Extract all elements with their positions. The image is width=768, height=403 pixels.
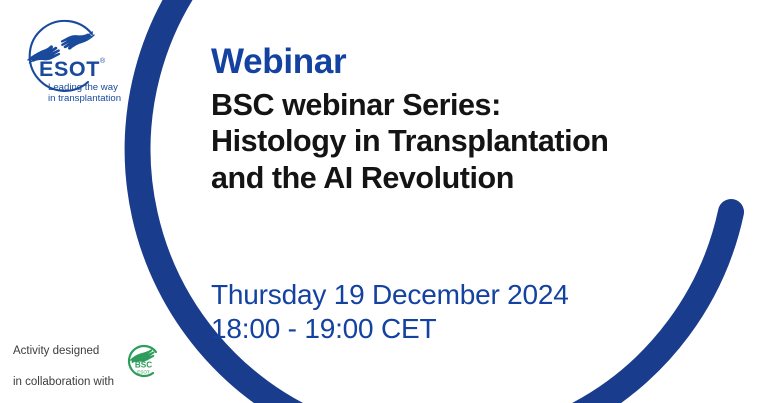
collaboration-text: Activity designed in collaboration with — [13, 329, 114, 391]
webinar-banner: ESOT ® Leading the way in transplantatio… — [0, 0, 768, 403]
schedule-block: Thursday 19 December 2024 18:00 - 19:00 … — [211, 278, 731, 346]
headline-line-2: Histology in Transplantation — [211, 123, 731, 160]
kicker-label: Webinar — [211, 44, 731, 81]
page-title: BSC webinar Series: Histology in Transpl… — [211, 87, 731, 197]
headline-block: Webinar BSC webinar Series: Histology in… — [211, 44, 731, 197]
esot-logo: ESOT ® Leading the way in transplantatio… — [10, 12, 135, 104]
esot-tagline-line-1: Leading the way — [48, 82, 118, 93]
collaboration-block: Activity designed in collaboration with … — [13, 329, 164, 391]
headline-line-3: and the AI Revolution — [211, 160, 731, 197]
bsc-logo-primary-text: BSC — [135, 360, 152, 369]
esot-tagline-line-2: in transplantation — [48, 93, 121, 104]
esot-wordmark: ESOT — [39, 57, 100, 81]
bsc-logo-secondary-text: ESOT — [137, 370, 150, 375]
esot-registered-mark: ® — [100, 57, 106, 65]
event-date: Thursday 19 December 2024 — [211, 278, 731, 312]
bsc-partner-logo: BSC ESOT — [122, 339, 164, 381]
collaboration-line-1: Activity designed — [13, 345, 99, 357]
collaboration-line-2: in collaboration with — [13, 376, 114, 388]
event-time: 18:00 - 19:00 CET — [211, 312, 731, 346]
headline-line-1: BSC webinar Series: — [211, 87, 731, 124]
